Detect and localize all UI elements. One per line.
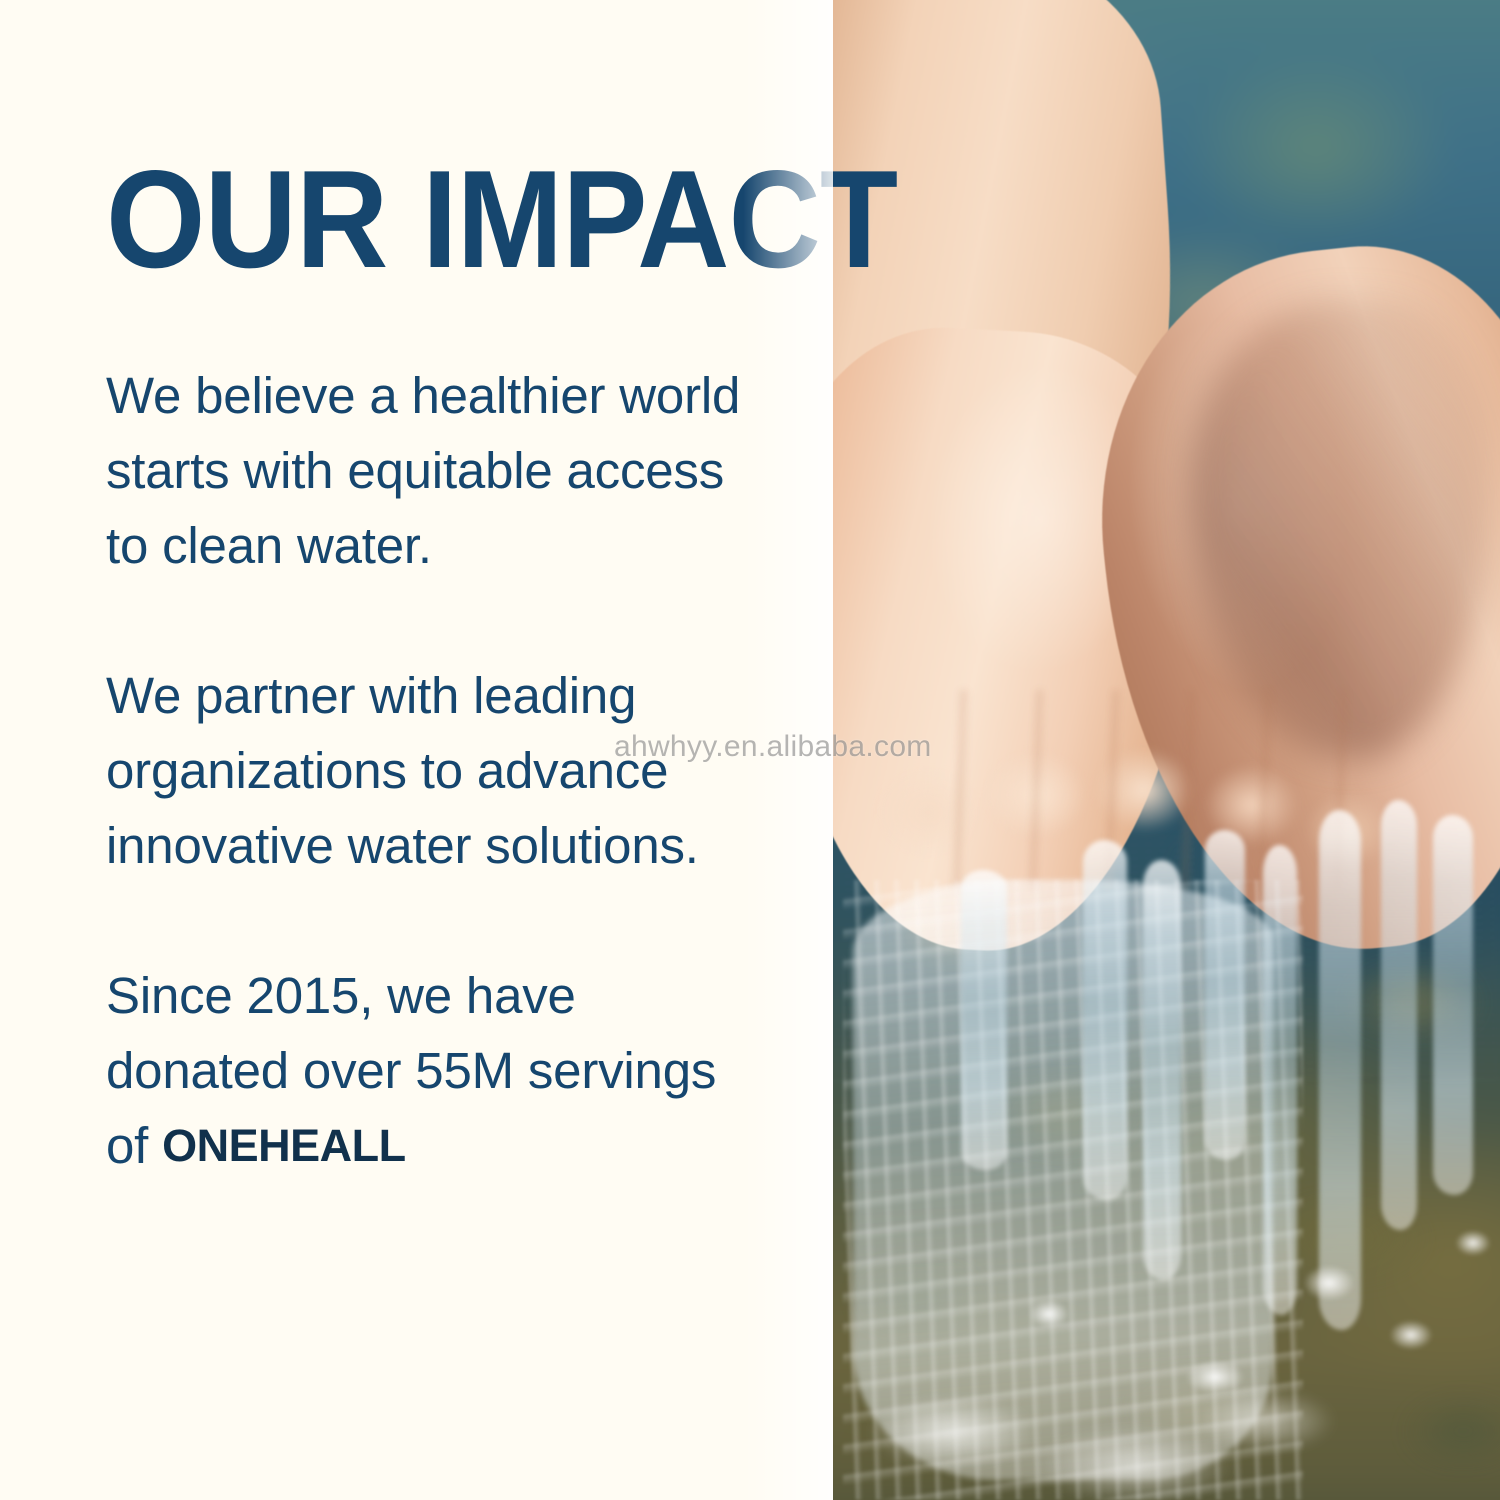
water-stream-4 — [1263, 845, 1297, 1315]
oneheall-logo: ONEHEALL — [162, 1108, 406, 1183]
water-droplet-5 — [1455, 1230, 1491, 1256]
paragraph-block-3: Since 2015, we have donated over 55M ser… — [106, 958, 766, 1185]
paragraph-block-1: We believe a healthier world starts with… — [106, 358, 766, 583]
water-stream-6 — [1381, 800, 1417, 1230]
alibaba-watermark: ahwhyy.en.alibaba.com — [614, 730, 932, 764]
paragraph-block-2: We partner with leading organizations to… — [106, 658, 766, 883]
impact-statement-3: Since 2015, we have donated over 55M ser… — [106, 958, 766, 1185]
water-droplet-2 — [1389, 1320, 1433, 1350]
finger-creases — [893, 690, 1373, 890]
water-stream-3 — [1205, 830, 1245, 1160]
water-stream-5 — [1319, 810, 1361, 1330]
water-stream-1 — [1083, 840, 1127, 1200]
page-title: OUR IMPACT — [106, 150, 897, 289]
impact-poster: OUR IMPACT We believe a healthier world … — [0, 0, 1500, 1500]
water-stream-2 — [1143, 860, 1181, 1280]
water-stream-8 — [961, 870, 1007, 1170]
impact-photo — [833, 0, 1500, 1500]
water-droplet-1 — [1303, 1265, 1355, 1301]
water-foam — [833, 1300, 1343, 1500]
water-stream-7 — [1433, 815, 1473, 1195]
impact-statement-1: We believe a healthier world starts with… — [106, 358, 766, 583]
impact-statement-2: We partner with leading organizations to… — [106, 658, 766, 883]
